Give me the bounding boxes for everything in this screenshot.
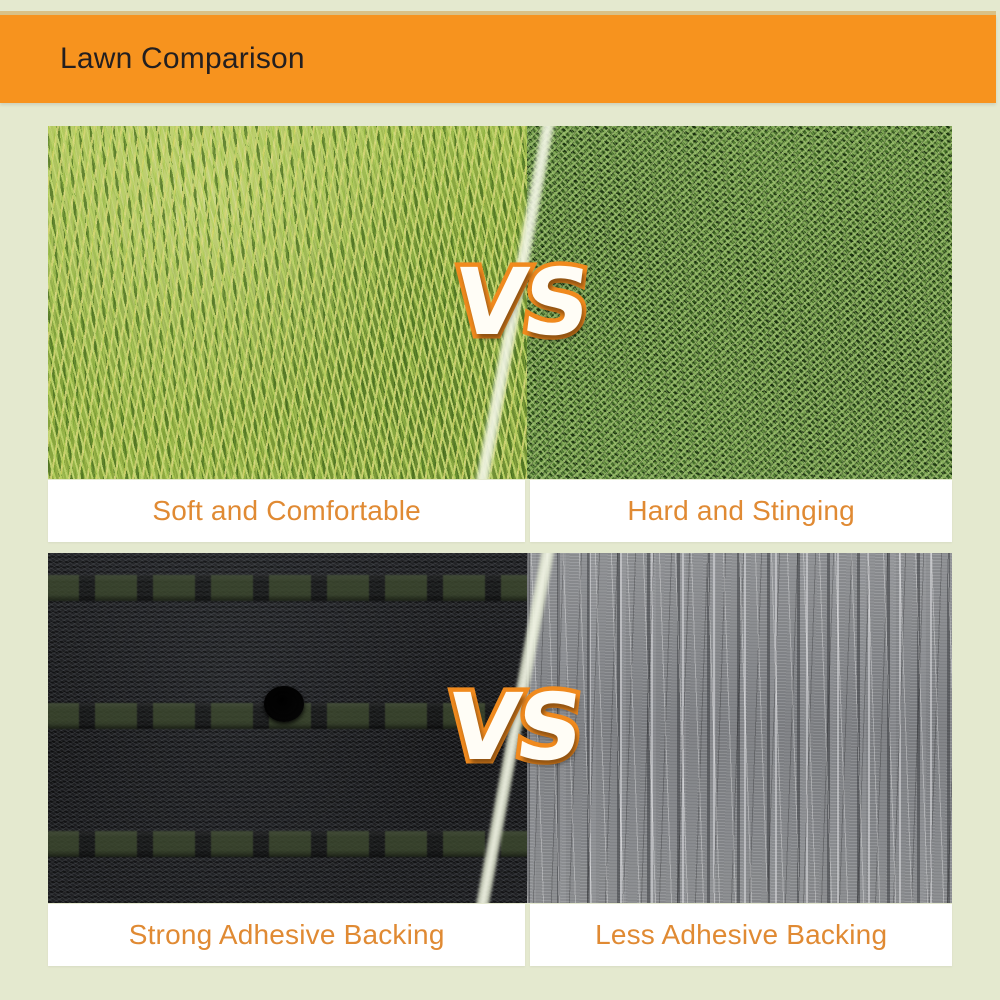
header-bar: Lawn Comparison [0,15,996,103]
comparison-block-surface-feel: VS Soft and Comfortable Hard and Stingin… [48,126,952,542]
page-title: Lawn Comparison [60,42,305,76]
lawn-comparison-page: Lawn Comparison VS Soft and Comfortable … [0,0,1000,1000]
stitch-row [48,831,601,857]
image-hard-grass [527,126,952,479]
comparison-image-surface-feel: VS [48,126,952,479]
caption-row-backing-quality: Strong Adhesive Backing Less Adhesive Ba… [48,904,952,966]
stitch-row [48,575,601,601]
comparison-block-backing-quality: VS Strong Adhesive Backing Less Adhesive… [48,553,952,966]
drain-hole [264,686,304,722]
caption-less-adhesive-backing: Less Adhesive Backing [530,904,952,966]
image-less-adhesive-backing [527,553,952,903]
stitch-row [48,703,601,729]
caption-soft-and-comfortable: Soft and Comfortable [48,480,525,542]
comparison-image-backing-quality: VS [48,553,952,903]
caption-hard-and-stinging: Hard and Stinging [530,480,952,542]
image-soft-grass [48,126,590,479]
image-strong-adhesive-backing [48,553,590,903]
caption-row-surface-feel: Soft and Comfortable Hard and Stinging [48,480,952,542]
caption-strong-adhesive-backing: Strong Adhesive Backing [48,904,525,966]
